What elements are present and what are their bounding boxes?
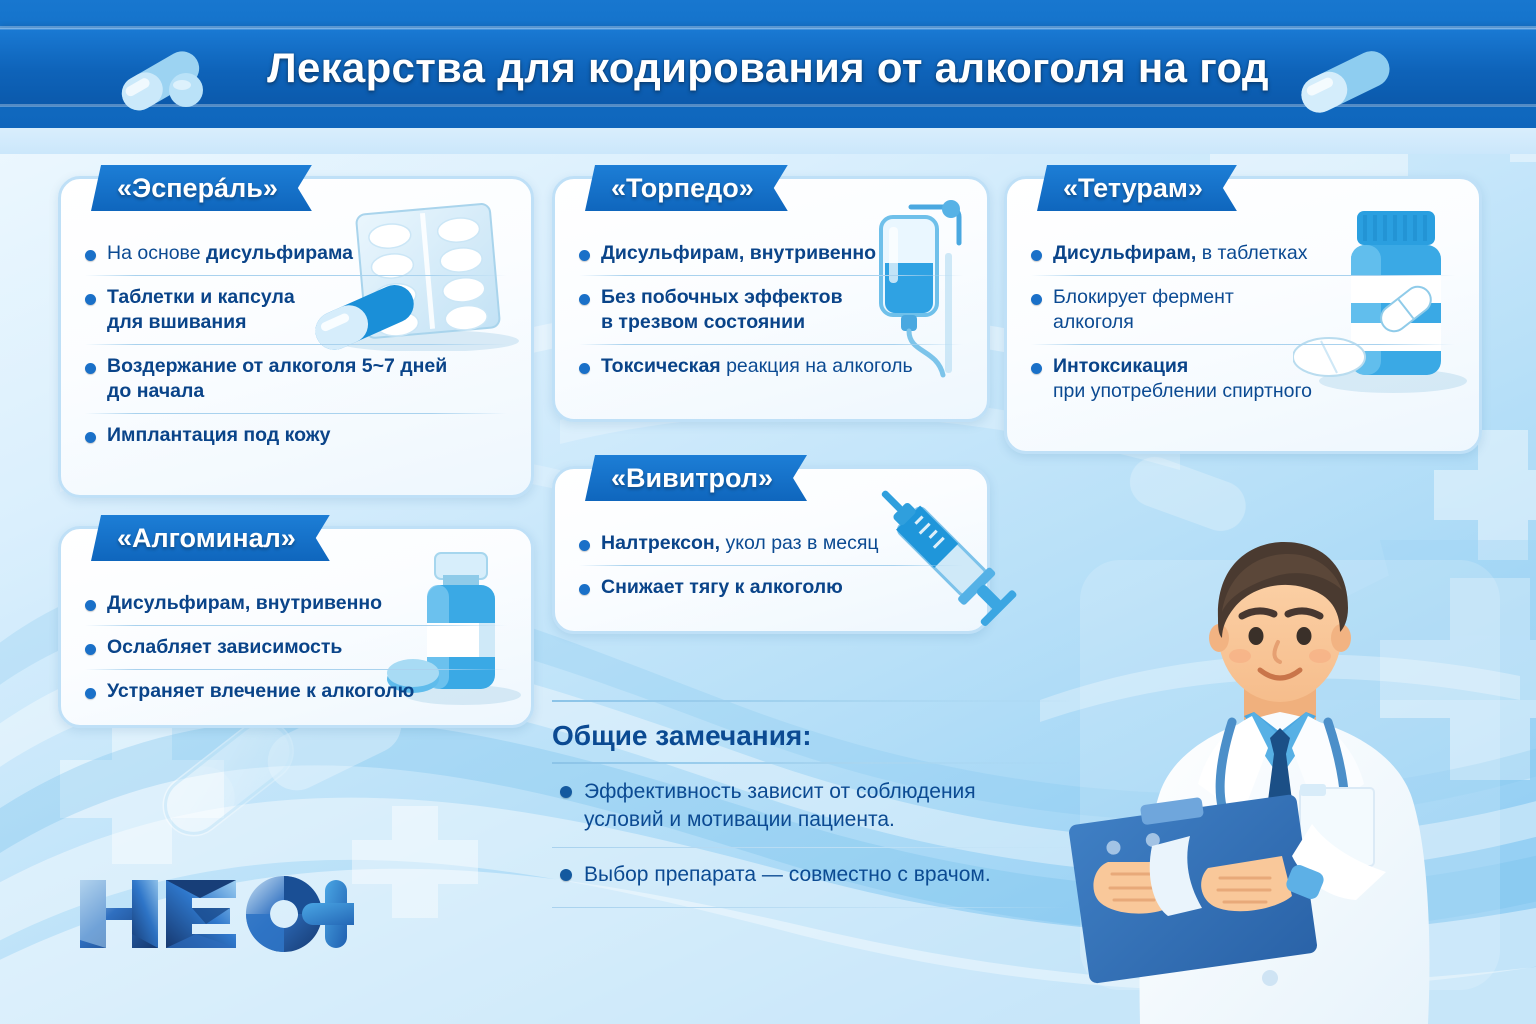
divider xyxy=(85,344,507,345)
bullet-icon xyxy=(560,869,572,881)
neo-plus-logo xyxy=(74,866,354,962)
bullet-icon xyxy=(85,644,96,655)
infographic-poster: Лекарства для кодирования от алкоголя на… xyxy=(0,0,1536,1024)
list-item: Без побочных эффектов в трезвом состояни… xyxy=(555,285,987,335)
card-vivitrol: «Вивитрол» Налтрексон, укол раз в месяц … xyxy=(552,466,990,634)
list-item: На основе дисульфирама xyxy=(61,241,531,266)
item-text: Ослабляет зависимость xyxy=(107,635,509,660)
note-item: Эффективность зависит от соблюдения усло… xyxy=(552,778,1072,834)
notes-rule-under-title xyxy=(552,762,1072,764)
item-text: Имплантация под кожу xyxy=(107,423,509,448)
item-text: Воздержание от алкоголя 5~7 дней до нача… xyxy=(107,354,509,404)
list-vivitrol: Налтрексон, укол раз в месяц Снижает тяг… xyxy=(555,531,987,600)
item-text: Дисульфирам, в таблетках xyxy=(1053,241,1457,266)
card-title-esperal: «Эсперáль» xyxy=(91,165,312,211)
item-text: Дисульфирам, внутривенно xyxy=(107,591,509,616)
notes-title: Общие замечания: xyxy=(552,720,1072,752)
header-band: Лекарства для кодирования от алкоголя на… xyxy=(0,0,1536,128)
list-item: Воздержание от алкоголя 5~7 дней до нача… xyxy=(61,354,531,404)
divider xyxy=(1031,344,1455,345)
notes-rule-bottom xyxy=(552,907,1072,908)
divider xyxy=(579,275,963,276)
bullet-icon xyxy=(85,688,96,699)
divider xyxy=(1031,275,1455,276)
list-item: Блокирует фермент алкоголя xyxy=(1007,285,1479,335)
notes-divider xyxy=(552,847,1072,848)
note-text: Выбор препарата — совместно с врачом. xyxy=(584,861,1050,889)
list-item: Дисульфирам, внутривенно xyxy=(61,591,531,616)
card-esperal: «Эсперáль» На основе дисульфирама Таблет… xyxy=(58,176,534,498)
bullet-icon xyxy=(579,584,590,595)
divider xyxy=(579,565,963,566)
list-algominal: Дисульфирам, внутривенно Ослабляет завис… xyxy=(61,591,531,704)
bullet-icon xyxy=(1031,294,1042,305)
header-rule-top xyxy=(0,26,1536,29)
list-item: Налтрексон, укол раз в месяц xyxy=(555,531,987,556)
item-text: Устраняет влечение к алкоголю xyxy=(107,679,509,704)
list-esperal: На основе дисульфирама Таблетки и капсул… xyxy=(61,241,531,448)
card-title-algominal: «Алгоминал» xyxy=(91,515,330,561)
page-title: Лекарства для кодирования от алкоголя на… xyxy=(0,44,1536,92)
list-item: Дисульфирам, внутривенно xyxy=(555,241,987,266)
item-text: Таблетки и капсула для вшивания xyxy=(107,285,509,335)
item-text: На основе дисульфирама xyxy=(107,241,509,266)
item-text: Дисульфирам, внутривенно xyxy=(601,241,965,266)
note-item: Выбор препарата — совместно с врачом. xyxy=(552,861,1072,889)
item-text: Налтрексон, укол раз в месяц xyxy=(601,531,965,556)
general-notes-section: Общие замечания: Эффективность зависит о… xyxy=(552,700,1072,921)
card-teturam: «Тетурам» Дисульфирам, в таблетках Блоки… xyxy=(1004,176,1482,454)
header-rule-bottom xyxy=(0,104,1536,107)
item-text: Снижает тягу к алкоголю xyxy=(601,575,965,600)
list-item: Таблетки и капсула для вшивания xyxy=(61,285,531,335)
list-item: Имплантация под кожу xyxy=(61,423,531,448)
bullet-icon xyxy=(579,363,590,374)
list-item: Дисульфирам, в таблетках xyxy=(1007,241,1479,266)
list-item: Снижает тягу к алкоголю xyxy=(555,575,987,600)
item-text: Интоксикация при употреблении спиртного xyxy=(1053,354,1457,404)
doctor-with-clipboard-illustration xyxy=(1056,516,1508,1024)
card-title-teturam: «Тетурам» xyxy=(1037,165,1237,211)
bullet-icon xyxy=(85,363,96,374)
item-text: Токсическая реакция на алкоголь xyxy=(601,354,965,379)
bullet-icon xyxy=(1031,250,1042,261)
card-title-torpedo: «Торпедо» xyxy=(585,165,788,211)
item-text: Без побочных эффектов в трезвом состояни… xyxy=(601,285,965,335)
bullet-icon xyxy=(85,250,96,261)
divider xyxy=(85,413,507,414)
list-item: Интоксикация при употреблении спиртного xyxy=(1007,354,1479,404)
bullet-icon xyxy=(1031,363,1042,374)
item-text: Блокирует фермент алкоголя xyxy=(1053,285,1457,335)
header-underbar xyxy=(0,128,1536,154)
bullet-icon xyxy=(579,250,590,261)
bullet-icon xyxy=(560,786,572,798)
card-algominal: «Алгоминал» Дисульфирам, внутривенно Осл… xyxy=(58,526,534,728)
card-torpedo: «Торпедо» Дисульфирам, внутривенно Без п… xyxy=(552,176,990,422)
notes-rule-top xyxy=(552,700,1072,702)
bullet-icon xyxy=(85,600,96,611)
bullet-icon xyxy=(579,540,590,551)
card-title-vivitrol: «Вивитрол» xyxy=(585,455,807,501)
divider xyxy=(579,344,963,345)
list-teturam: Дисульфирам, в таблетках Блокирует ферме… xyxy=(1007,241,1479,404)
divider xyxy=(85,669,507,670)
list-item: Ослабляет зависимость xyxy=(61,635,531,660)
divider xyxy=(85,275,507,276)
list-item: Устраняет влечение к алкоголю xyxy=(61,679,531,704)
list-item: Токсическая реакция на алкоголь xyxy=(555,354,987,379)
bullet-icon xyxy=(85,432,96,443)
note-text: Эффективность зависит от соблюдения усло… xyxy=(584,778,1050,834)
list-torpedo: Дисульфирам, внутривенно Без побочных эф… xyxy=(555,241,987,379)
bullet-icon xyxy=(85,294,96,305)
divider xyxy=(85,625,507,626)
bullet-icon xyxy=(579,294,590,305)
